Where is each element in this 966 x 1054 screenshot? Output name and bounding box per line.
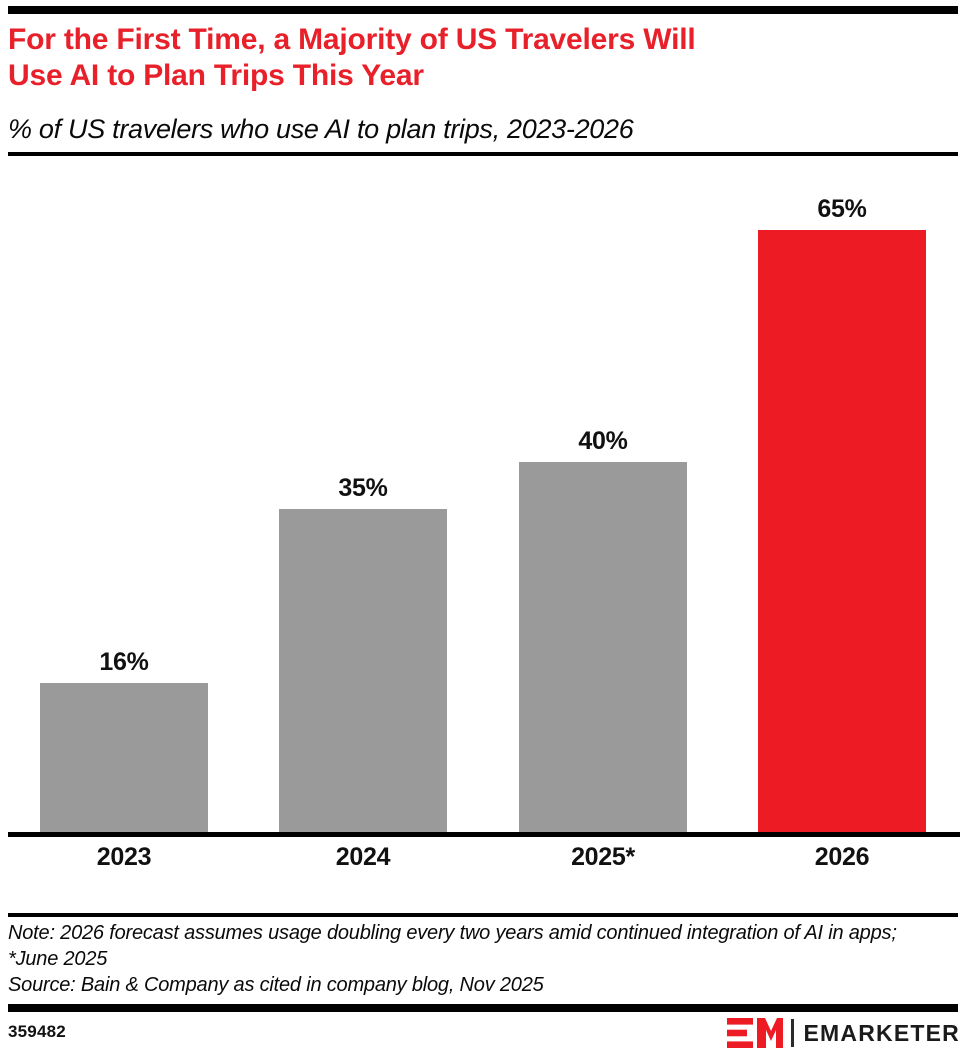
bar-rect-2024 [279,509,447,832]
em-monogram-icon [727,1018,783,1048]
bar-2024: 35% [279,509,447,832]
chart-id: 359482 [8,1022,66,1042]
logo-divider [791,1019,794,1047]
page-title: For the First Time, a Majority of US Tra… [8,22,952,94]
x-axis-line [8,832,960,837]
emarketer-logo: EMARKETER [727,1017,960,1049]
x-label-2023: 2023 [40,843,208,872]
bar-value-2024: 35% [279,474,447,503]
bar-2026: 65% [758,230,926,832]
bar-rect-2023 [40,683,208,832]
bar-2023: 16% [40,683,208,832]
x-axis-labels: 2023 2024 2025* 2026 [0,843,966,883]
chart-subtitle: % of US travelers who use AI to plan tri… [8,112,960,146]
footer-divider [8,1004,958,1012]
bar-chart-plot: 16% 35% 40% 65% [0,160,966,860]
source-text: Source: Bain & Company as cited in compa… [8,972,948,998]
notes-divider [8,913,958,917]
footnotes: Note: 2026 forecast assumes usage doubli… [8,920,948,998]
x-label-2026: 2026 [758,843,926,872]
bar-value-2025: 40% [519,427,687,456]
chart-card: For the First Time, a Majority of US Tra… [0,0,966,1054]
x-label-2025: 2025* [519,843,687,872]
top-rule [8,6,958,14]
bar-2025: 40% [519,462,687,832]
header-divider [8,152,958,156]
bar-rect-2025 [519,462,687,832]
x-label-2024: 2024 [279,843,447,872]
bar-value-2026: 65% [758,195,926,224]
logo-wordmark: EMARKETER [804,1020,960,1047]
bar-rect-2026 [758,230,926,832]
bar-value-2023: 16% [40,648,208,677]
note-text: Note: 2026 forecast assumes usage doubli… [8,920,948,972]
